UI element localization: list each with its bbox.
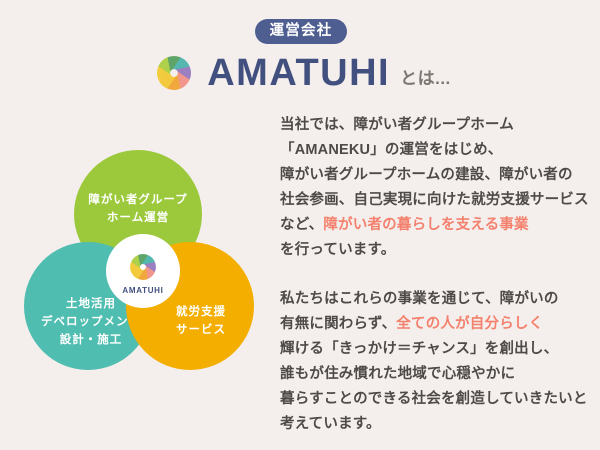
- paragraph-2: 私たちはこれらの事業を通じて、障がいの 有無に関わらず、全ての人が自分らしく 輝…: [280, 287, 592, 437]
- copy-line: 暮らすことのできる社会を創造していきたいと: [280, 387, 592, 412]
- copy-line: 「AMANEKU」の運営をはじめ、: [280, 138, 592, 163]
- venn-label-line: 障がい者グループ: [88, 192, 187, 210]
- copy-line: 障がい者グループホームの建設、障がい者の: [280, 163, 592, 188]
- amatuhi-pinwheel-logo-icon: [149, 48, 199, 98]
- paragraph-1: 当社では、障がい者グループホーム 「AMANEKU」の運営をはじめ、 障がい者グ…: [280, 113, 592, 263]
- business-venn-diagram: 障がい者グループ ホーム運営 土地活用 デベロップメント 設計・施工 就労支援 …: [8, 150, 270, 400]
- venn-center-brand-badge: AMATUHI: [106, 234, 180, 308]
- copy-line: 私たちはこれらの事業を通じて、障がいの: [280, 287, 592, 312]
- copy-line-highlight: 全ての人が自分らしく: [396, 316, 543, 332]
- copy-line-highlight: 障がい者の暮らしを支える事業: [323, 217, 528, 233]
- venn-label-line: 設計・施工: [60, 332, 123, 350]
- venn-label-line: サービス: [176, 322, 226, 340]
- copy-line: を行っています。: [280, 238, 592, 263]
- brand-suffix: とは...: [400, 60, 451, 87]
- amatuhi-pinwheel-logo-icon: [124, 248, 162, 286]
- copy-line: 誰もが住み慣れた地域で心穏やかに: [280, 362, 592, 387]
- venn-label-line: ホーム運営: [107, 210, 169, 228]
- brand-wordmark: AMATUHI: [207, 54, 390, 92]
- copy-line: 当社では、障がい者グループホーム: [280, 113, 592, 138]
- venn-label-line: 土地活用: [66, 296, 116, 314]
- copy-line-prefix: など、: [280, 217, 323, 233]
- venn-label-line: 就労支援: [176, 304, 226, 322]
- section-badge: 運営会社: [255, 19, 347, 44]
- copy-line: 社会参画、自己実現に向けた就労支援サービス: [280, 188, 592, 213]
- about-copy: 当社では、障がい者グループホーム 「AMANEKU」の運営をはじめ、 障がい者グ…: [280, 113, 592, 437]
- brand-lockup: AMATUHI とは...: [0, 48, 600, 98]
- copy-line: 有無に関わらず、全ての人が自分らしく: [280, 312, 592, 337]
- copy-line: 考えています。: [280, 412, 592, 437]
- copy-line: など、障がい者の暮らしを支える事業: [280, 213, 592, 238]
- venn-center-wordmark: AMATUHI: [122, 287, 163, 295]
- copy-line: 輝ける「きっかけ＝チャンス」を創出し、: [280, 337, 592, 362]
- copy-line-prefix: 有無に関わらず、: [280, 316, 396, 332]
- header: 運営会社 AMATUHI とは...: [0, 0, 600, 105]
